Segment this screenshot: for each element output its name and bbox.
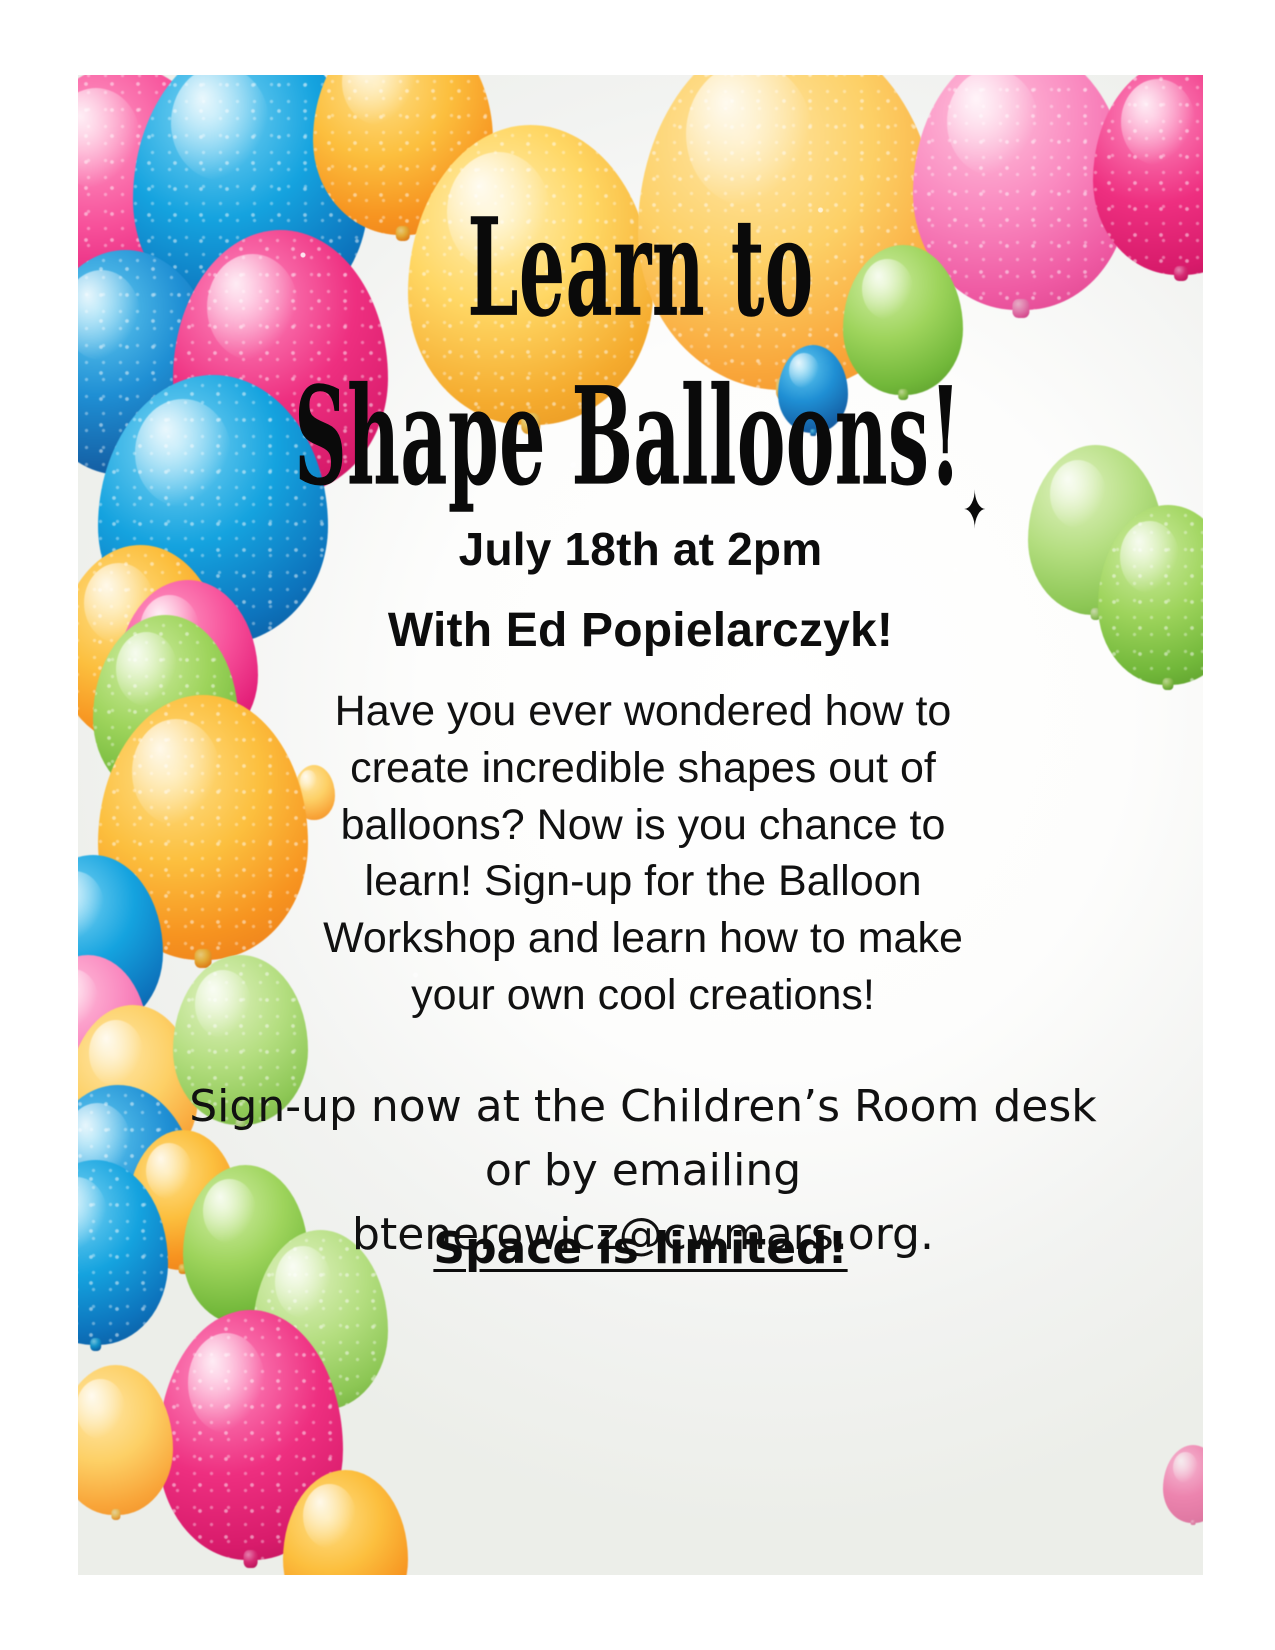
page-title-line2: Shape Balloons!✦ [247, 374, 1035, 535]
event-description: Have you ever wondered how to create inc… [318, 683, 968, 1024]
flyer-content: Learn to Shape Balloons!✦ July 18th at 2… [78, 75, 1203, 1575]
flyer-poster: Learn to Shape Balloons!✦ July 18th at 2… [78, 75, 1203, 1575]
page-title-line2-text: Shape Balloons! [294, 356, 961, 516]
event-presenter: With Ed Popielarczyk! [78, 603, 1203, 658]
event-date-time: July 18th at 2pm [78, 522, 1203, 576]
page-title-line1: Learn to [247, 206, 1035, 330]
space-limited-notice: Space is limited! [78, 1223, 1203, 1274]
space-limited-text: Space is limited! [433, 1223, 847, 1274]
